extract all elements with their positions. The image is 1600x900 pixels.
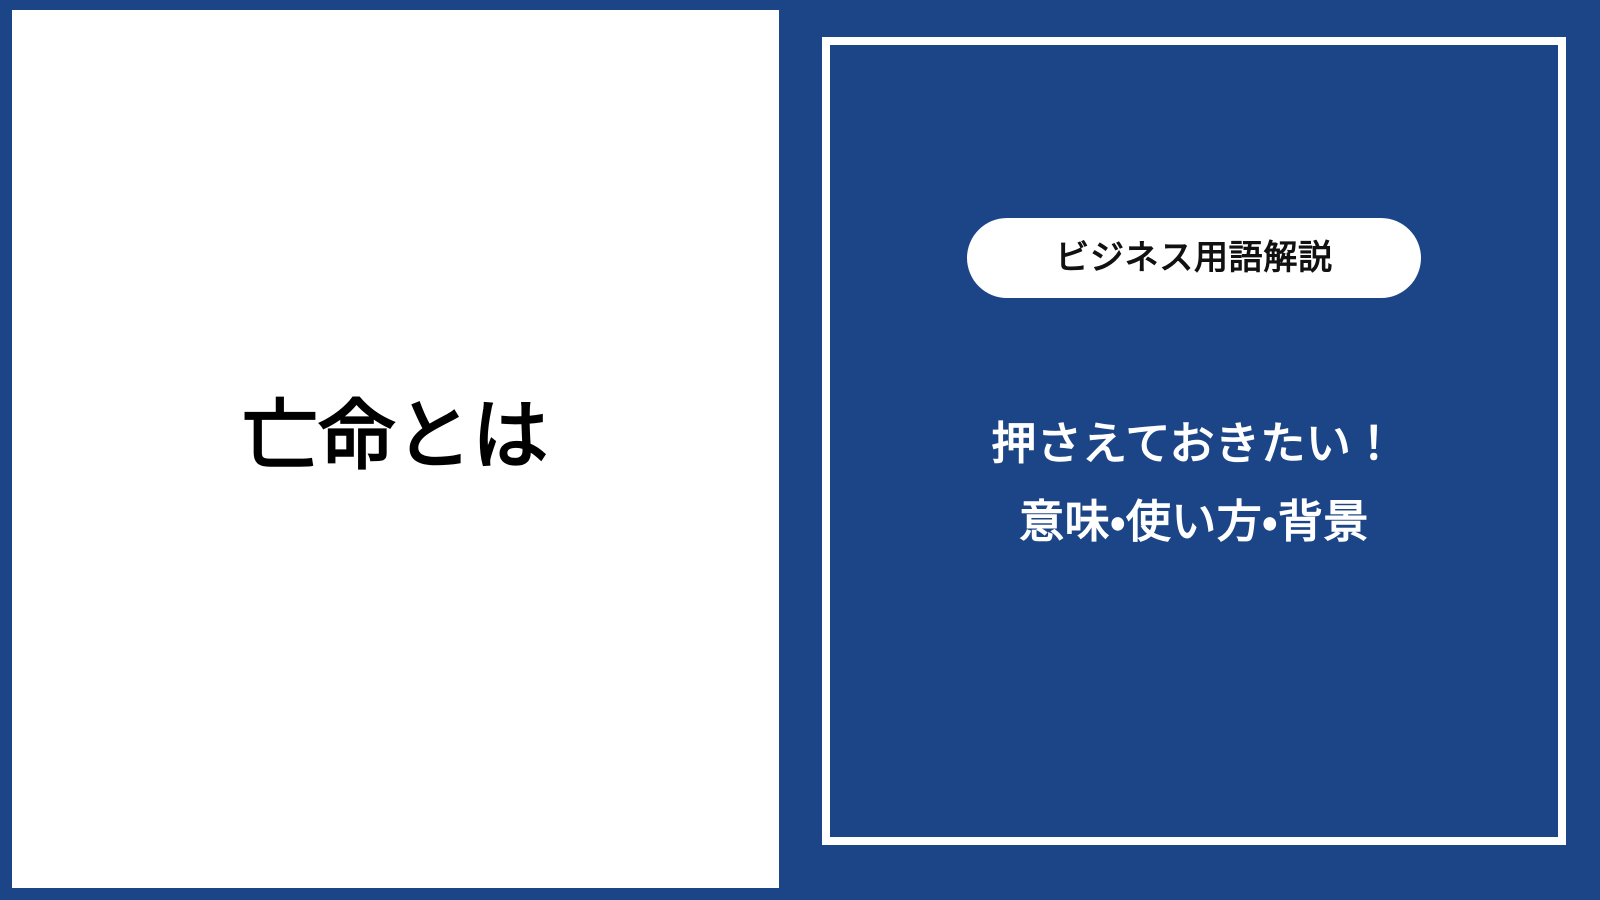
slide-canvas: 亡命とは ビジネス用語解説 押さえておきたい！ 意味・使い方・背景 [0, 0, 1600, 900]
category-badge: ビジネス用語解説 [967, 218, 1421, 298]
highlight-panel-inner: ビジネス用語解説 押さえておきたい！ 意味・使い方・背景 [830, 45, 1558, 837]
subtitle-block: 押さえておきたい！ 意味・使い方・背景 [830, 405, 1558, 561]
category-badge-label: ビジネス用語解説 [1055, 241, 1332, 275]
highlight-panel: ビジネス用語解説 押さえておきたい！ 意味・使い方・背景 [822, 37, 1566, 845]
term-panel: 亡命とは [12, 10, 779, 888]
page-title: 亡命とは [242, 392, 549, 479]
subtitle-line-2: 意味・使い方・背景 [830, 483, 1558, 561]
subtitle-line-1: 押さえておきたい！ [830, 405, 1558, 483]
